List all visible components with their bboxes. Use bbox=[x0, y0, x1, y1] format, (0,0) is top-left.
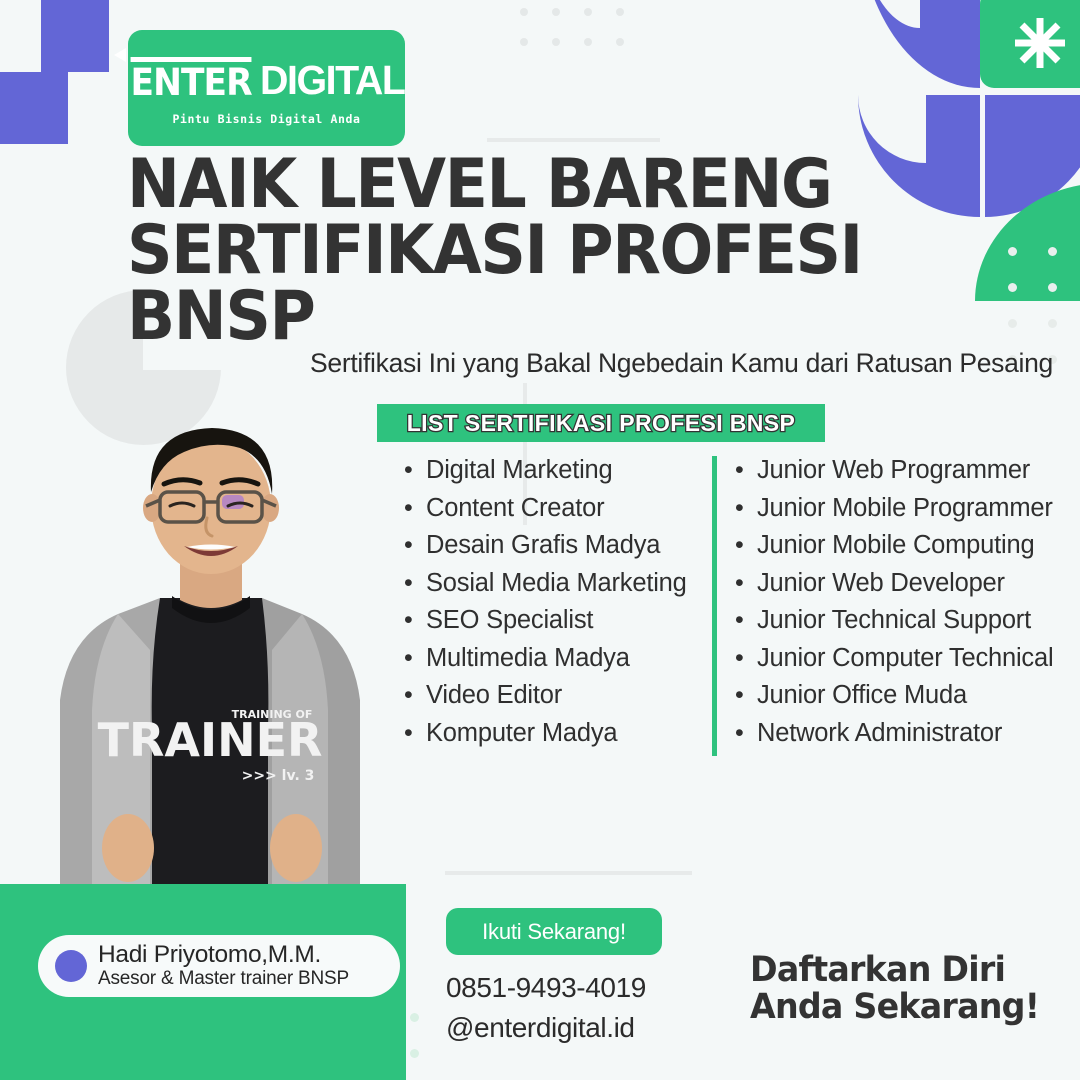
list-item: •Junior Web Developer bbox=[717, 569, 1072, 607]
list-item: •Junior Technical Support bbox=[717, 606, 1072, 644]
bullet-icon: • bbox=[735, 533, 757, 558]
bullet-icon: • bbox=[404, 533, 426, 558]
list-item-label: Junior Mobile Programmer bbox=[757, 494, 1053, 523]
join-now-button[interactable]: Ikuti Sekarang! bbox=[446, 908, 662, 955]
headline-line-1: NAIK LEVEL BARENG bbox=[127, 152, 964, 218]
subtitle: Sertifikasi Ini yang Bakal Ngebedain Kam… bbox=[310, 348, 1053, 379]
certification-list-left: •Digital Marketing •Content Creator •Des… bbox=[404, 456, 704, 756]
shirt-text-level: >>> lv. 3 bbox=[242, 768, 315, 784]
certification-list-right: •Junior Web Programmer •Junior Mobile Pr… bbox=[712, 456, 1072, 756]
purple-square-left bbox=[0, 72, 68, 144]
brand-logo: ENTER DIGITAL Pintu Bisnis Digital Anda bbox=[128, 30, 405, 146]
poster-canvas: ENTER DIGITAL Pintu Bisnis Digital Anda … bbox=[0, 0, 1080, 1080]
list-item-label: Video Editor bbox=[426, 681, 562, 710]
presenter-name: Hadi Priyotomo,M.M. bbox=[98, 942, 349, 968]
dot-grid-top bbox=[520, 8, 624, 46]
list-item: •SEO Specialist bbox=[404, 606, 704, 644]
purple-arc-lower-right bbox=[985, 95, 1080, 217]
purple-arc-upper bbox=[858, 0, 980, 88]
list-item: •Content Creator bbox=[404, 494, 704, 532]
list-banner-label: LIST SERTIFIKASI PROFESI BNSP bbox=[407, 410, 796, 437]
list-item-label: Junior Mobile Computing bbox=[757, 531, 1034, 560]
list-item: •Video Editor bbox=[404, 681, 704, 719]
headline-line-2: SERTIFIKASI PROFESI bbox=[127, 218, 964, 284]
asterisk-icon bbox=[980, 0, 1080, 88]
purple-square-top bbox=[41, 0, 109, 72]
list-item: •Komputer Madya bbox=[404, 719, 704, 757]
bullet-icon: • bbox=[735, 646, 757, 671]
bullet-icon: • bbox=[404, 683, 426, 708]
list-item: •Junior Mobile Computing bbox=[717, 531, 1072, 569]
list-item-label: Junior Office Muda bbox=[757, 681, 967, 710]
presenter-name-card: Hadi Priyotomo,M.M. Asesor & Master trai… bbox=[38, 935, 400, 997]
bullet-icon: • bbox=[404, 571, 426, 596]
page-title: NAIK LEVEL BARENG SERTIFIKASI PROFESI BN… bbox=[127, 152, 964, 350]
arrow-left-icon bbox=[114, 48, 126, 62]
certification-lists: •Digital Marketing •Content Creator •Des… bbox=[404, 456, 1080, 756]
list-item: •Network Administrator bbox=[717, 719, 1072, 757]
list-item-label: Desain Grafis Madya bbox=[426, 531, 660, 560]
bullet-icon: • bbox=[404, 646, 426, 671]
list-item: •Digital Marketing bbox=[404, 456, 704, 494]
presenter-name-text: Hadi Priyotomo,M.M. Asesor & Master trai… bbox=[98, 942, 349, 990]
bullet-icon: • bbox=[404, 608, 426, 633]
list-item-label: Multimedia Madya bbox=[426, 644, 630, 673]
green-rounded-square bbox=[980, 0, 1080, 88]
bullet-icon: • bbox=[404, 721, 426, 746]
bullet-icon: • bbox=[404, 496, 426, 521]
list-banner: LIST SERTIFIKASI PROFESI BNSP bbox=[377, 404, 825, 442]
list-item: •Sosial Media Marketing bbox=[404, 569, 704, 607]
list-item-label: Junior Web Developer bbox=[757, 569, 1005, 598]
avatar-dot-icon bbox=[55, 950, 87, 982]
logo-wordmark: ENTER DIGITAL bbox=[126, 57, 408, 101]
shirt-text-training-of: TRAINING OF bbox=[232, 708, 313, 721]
join-now-label: Ikuti Sekarang! bbox=[482, 919, 626, 945]
bullet-icon: • bbox=[404, 458, 426, 483]
list-item-label: Komputer Madya bbox=[426, 719, 617, 748]
divider-top bbox=[487, 138, 660, 142]
list-item: •Junior Office Muda bbox=[717, 681, 1072, 719]
contact-phone[interactable]: 0851-9493-4019 bbox=[446, 972, 646, 1004]
contact-instagram-handle[interactable]: @enterdigital.id bbox=[446, 1012, 635, 1044]
cta-headline-line-1: Daftarkan Diri bbox=[750, 952, 1039, 989]
list-item: •Multimedia Madya bbox=[404, 644, 704, 682]
list-item-label: Junior Computer Technical bbox=[757, 644, 1053, 673]
cta-headline-line-2: Anda Sekarang! bbox=[750, 989, 1039, 1026]
bullet-icon: • bbox=[735, 721, 757, 746]
bullet-icon: • bbox=[735, 683, 757, 708]
dot-grid-right bbox=[1008, 247, 1057, 364]
list-item-label: Digital Marketing bbox=[426, 456, 613, 485]
shirt-text-trainer: TRAINER bbox=[98, 713, 323, 767]
list-item-label: SEO Specialist bbox=[426, 606, 593, 635]
list-item: •Desain Grafis Madya bbox=[404, 531, 704, 569]
list-item-label: Content Creator bbox=[426, 494, 604, 523]
divider-bottom bbox=[445, 871, 692, 875]
headline-line-3: BNSP bbox=[127, 284, 964, 350]
bullet-icon: • bbox=[735, 458, 757, 483]
cta-headline: Daftarkan Diri Anda Sekarang! bbox=[750, 952, 1039, 1027]
list-item-label: Sosial Media Marketing bbox=[426, 569, 687, 598]
bullet-icon: • bbox=[735, 496, 757, 521]
bullet-icon: • bbox=[735, 571, 757, 596]
bullet-icon: • bbox=[735, 608, 757, 633]
list-item-label: Junior Web Programmer bbox=[757, 456, 1030, 485]
list-item-label: Network Administrator bbox=[757, 719, 1002, 748]
logo-text-enter: ENTER bbox=[130, 57, 251, 101]
logo-tagline: Pintu Bisnis Digital Anda bbox=[172, 112, 360, 126]
presenter-photo: TRAINER TRAINING OF >>> lv. 3 bbox=[0, 400, 400, 900]
list-item: •Junior Computer Technical bbox=[717, 644, 1072, 682]
presenter-role: Asesor & Master trainer BNSP bbox=[98, 968, 349, 990]
list-item-label: Junior Technical Support bbox=[757, 606, 1031, 635]
list-item: •Junior Web Programmer bbox=[717, 456, 1072, 494]
list-item: •Junior Mobile Programmer bbox=[717, 494, 1072, 532]
logo-text-digital: DIGITAL bbox=[260, 60, 404, 101]
purple-arc-upper-cutout bbox=[858, 0, 920, 28]
